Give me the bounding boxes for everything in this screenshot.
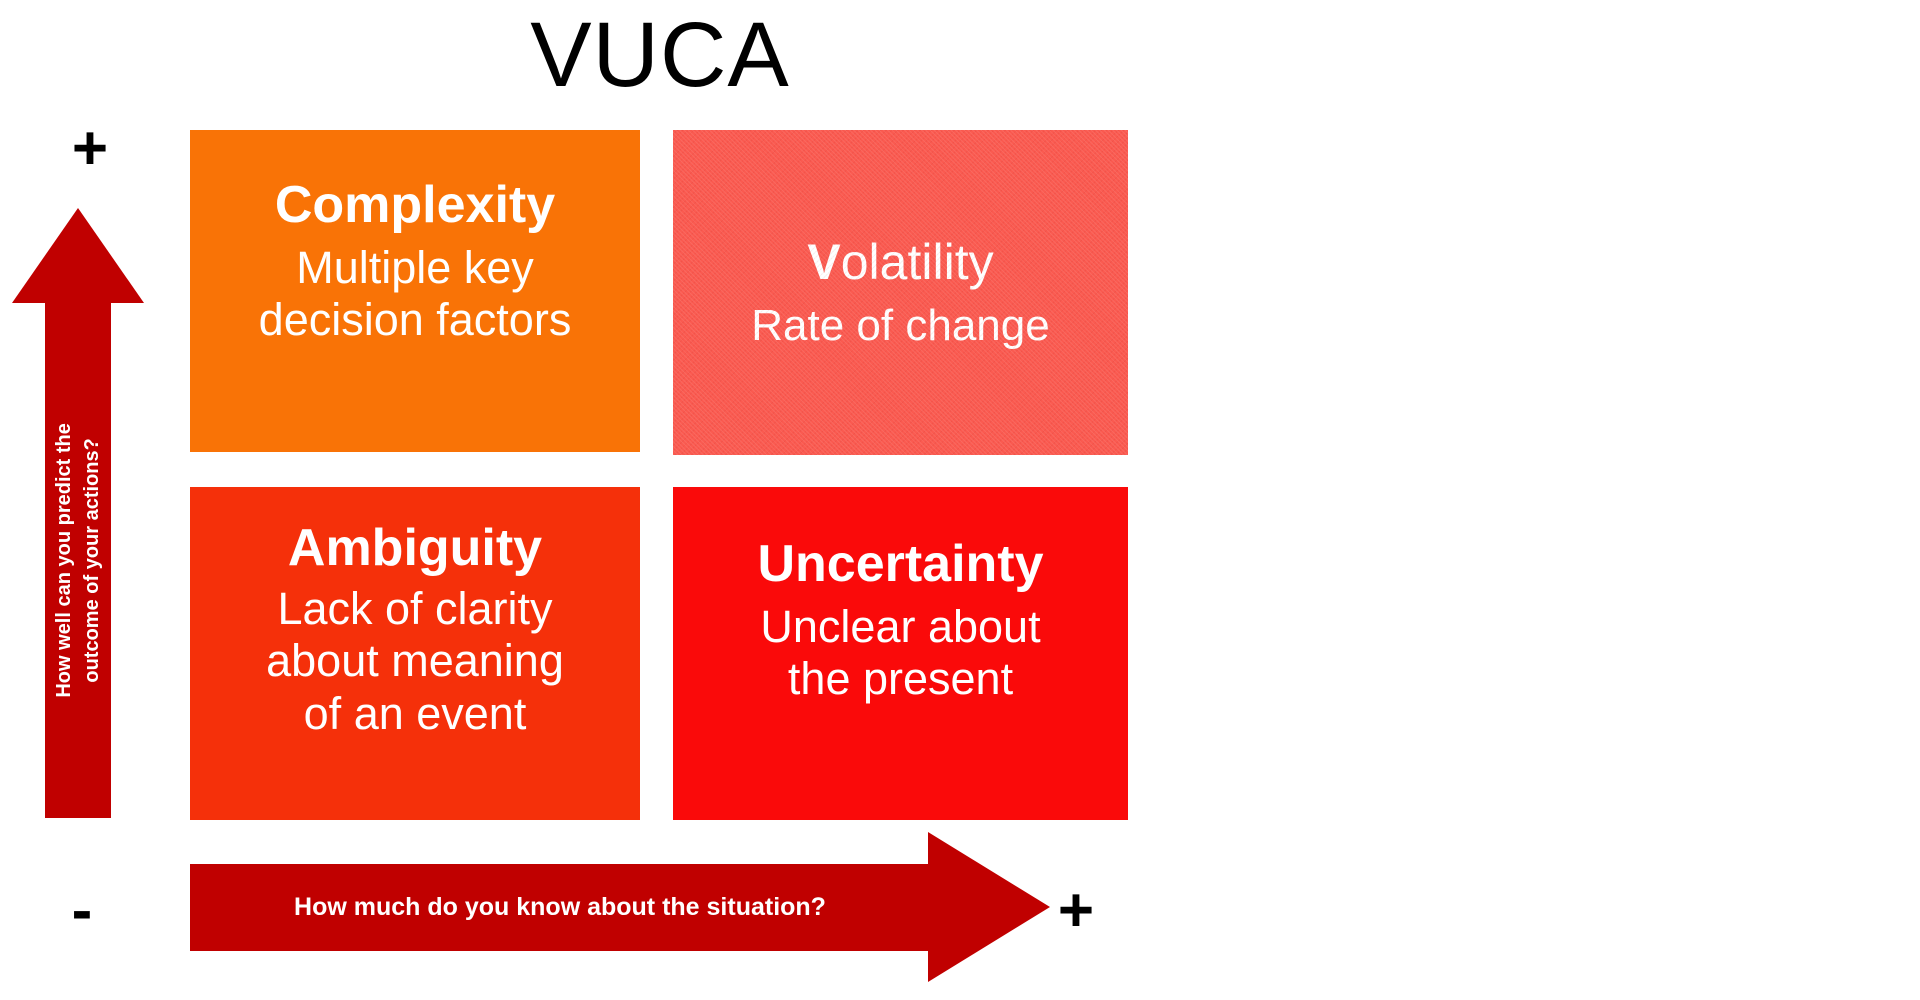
volatility-texture-overlay bbox=[673, 130, 1128, 455]
vuca-diagram: VUCA + How well can you predict the outc… bbox=[0, 0, 1920, 1000]
y-axis-arrowhead-icon bbox=[12, 208, 144, 303]
x-axis-label: How much do you know about the situation… bbox=[190, 864, 930, 951]
quadrant-ambiguity[interactable]: Ambiguity Lack of clarity about meaning … bbox=[190, 487, 640, 820]
y-axis-label: How well can you predict the outcome of … bbox=[45, 302, 111, 818]
quadrant-volatility-body: Rate of change bbox=[751, 300, 1049, 351]
quadrant-volatility[interactable]: Volatility Rate of change bbox=[673, 130, 1128, 455]
quadrant-volatility-heading-initial: V bbox=[807, 234, 840, 290]
quadrant-uncertainty[interactable]: Uncertainty Unclear about the present bbox=[673, 487, 1128, 820]
quadrant-ambiguity-body-line-2: about meaning bbox=[266, 635, 564, 687]
quadrant-complexity-body-line-1: Multiple key bbox=[259, 242, 572, 294]
quadrant-ambiguity-body-line-3: of an event bbox=[266, 688, 564, 740]
y-axis-label-line1: How well can you predict the bbox=[53, 423, 75, 698]
page-title: VUCA bbox=[0, 6, 1320, 105]
x-axis-minus-sign: - bbox=[46, 880, 118, 942]
quadrant-uncertainty-heading: Uncertainty bbox=[757, 535, 1043, 593]
y-axis-arrow: How well can you predict the outcome of … bbox=[12, 208, 144, 818]
quadrant-complexity[interactable]: Complexity Multiple key decision factors bbox=[190, 130, 640, 452]
quadrant-volatility-heading: Volatility bbox=[807, 234, 993, 290]
y-axis-plus-sign: + bbox=[54, 118, 126, 180]
quadrant-complexity-heading: Complexity bbox=[275, 176, 555, 234]
quadrant-ambiguity-heading: Ambiguity bbox=[288, 519, 542, 577]
quadrant-uncertainty-body: Unclear about the present bbox=[760, 601, 1040, 705]
quadrant-volatility-heading-rest: olatility bbox=[841, 234, 994, 290]
quadrant-ambiguity-body: Lack of clarity about meaning of an even… bbox=[266, 583, 564, 740]
quadrant-complexity-body-line-2: decision factors bbox=[259, 294, 572, 346]
quadrant-uncertainty-body-line-1: Unclear about bbox=[760, 601, 1040, 653]
quadrant-volatility-body-line-1: Rate of change bbox=[751, 300, 1049, 351]
y-axis-label-line2: outcome of your actions? bbox=[81, 438, 103, 682]
x-axis-plus-sign: + bbox=[1040, 880, 1112, 942]
quadrant-complexity-body: Multiple key decision factors bbox=[259, 242, 572, 346]
quadrant-ambiguity-body-line-1: Lack of clarity bbox=[266, 583, 564, 635]
quadrant-uncertainty-body-line-2: the present bbox=[760, 653, 1040, 705]
x-axis-arrow: How much do you know about the situation… bbox=[190, 832, 1050, 982]
x-axis-arrowhead-icon bbox=[928, 832, 1050, 982]
